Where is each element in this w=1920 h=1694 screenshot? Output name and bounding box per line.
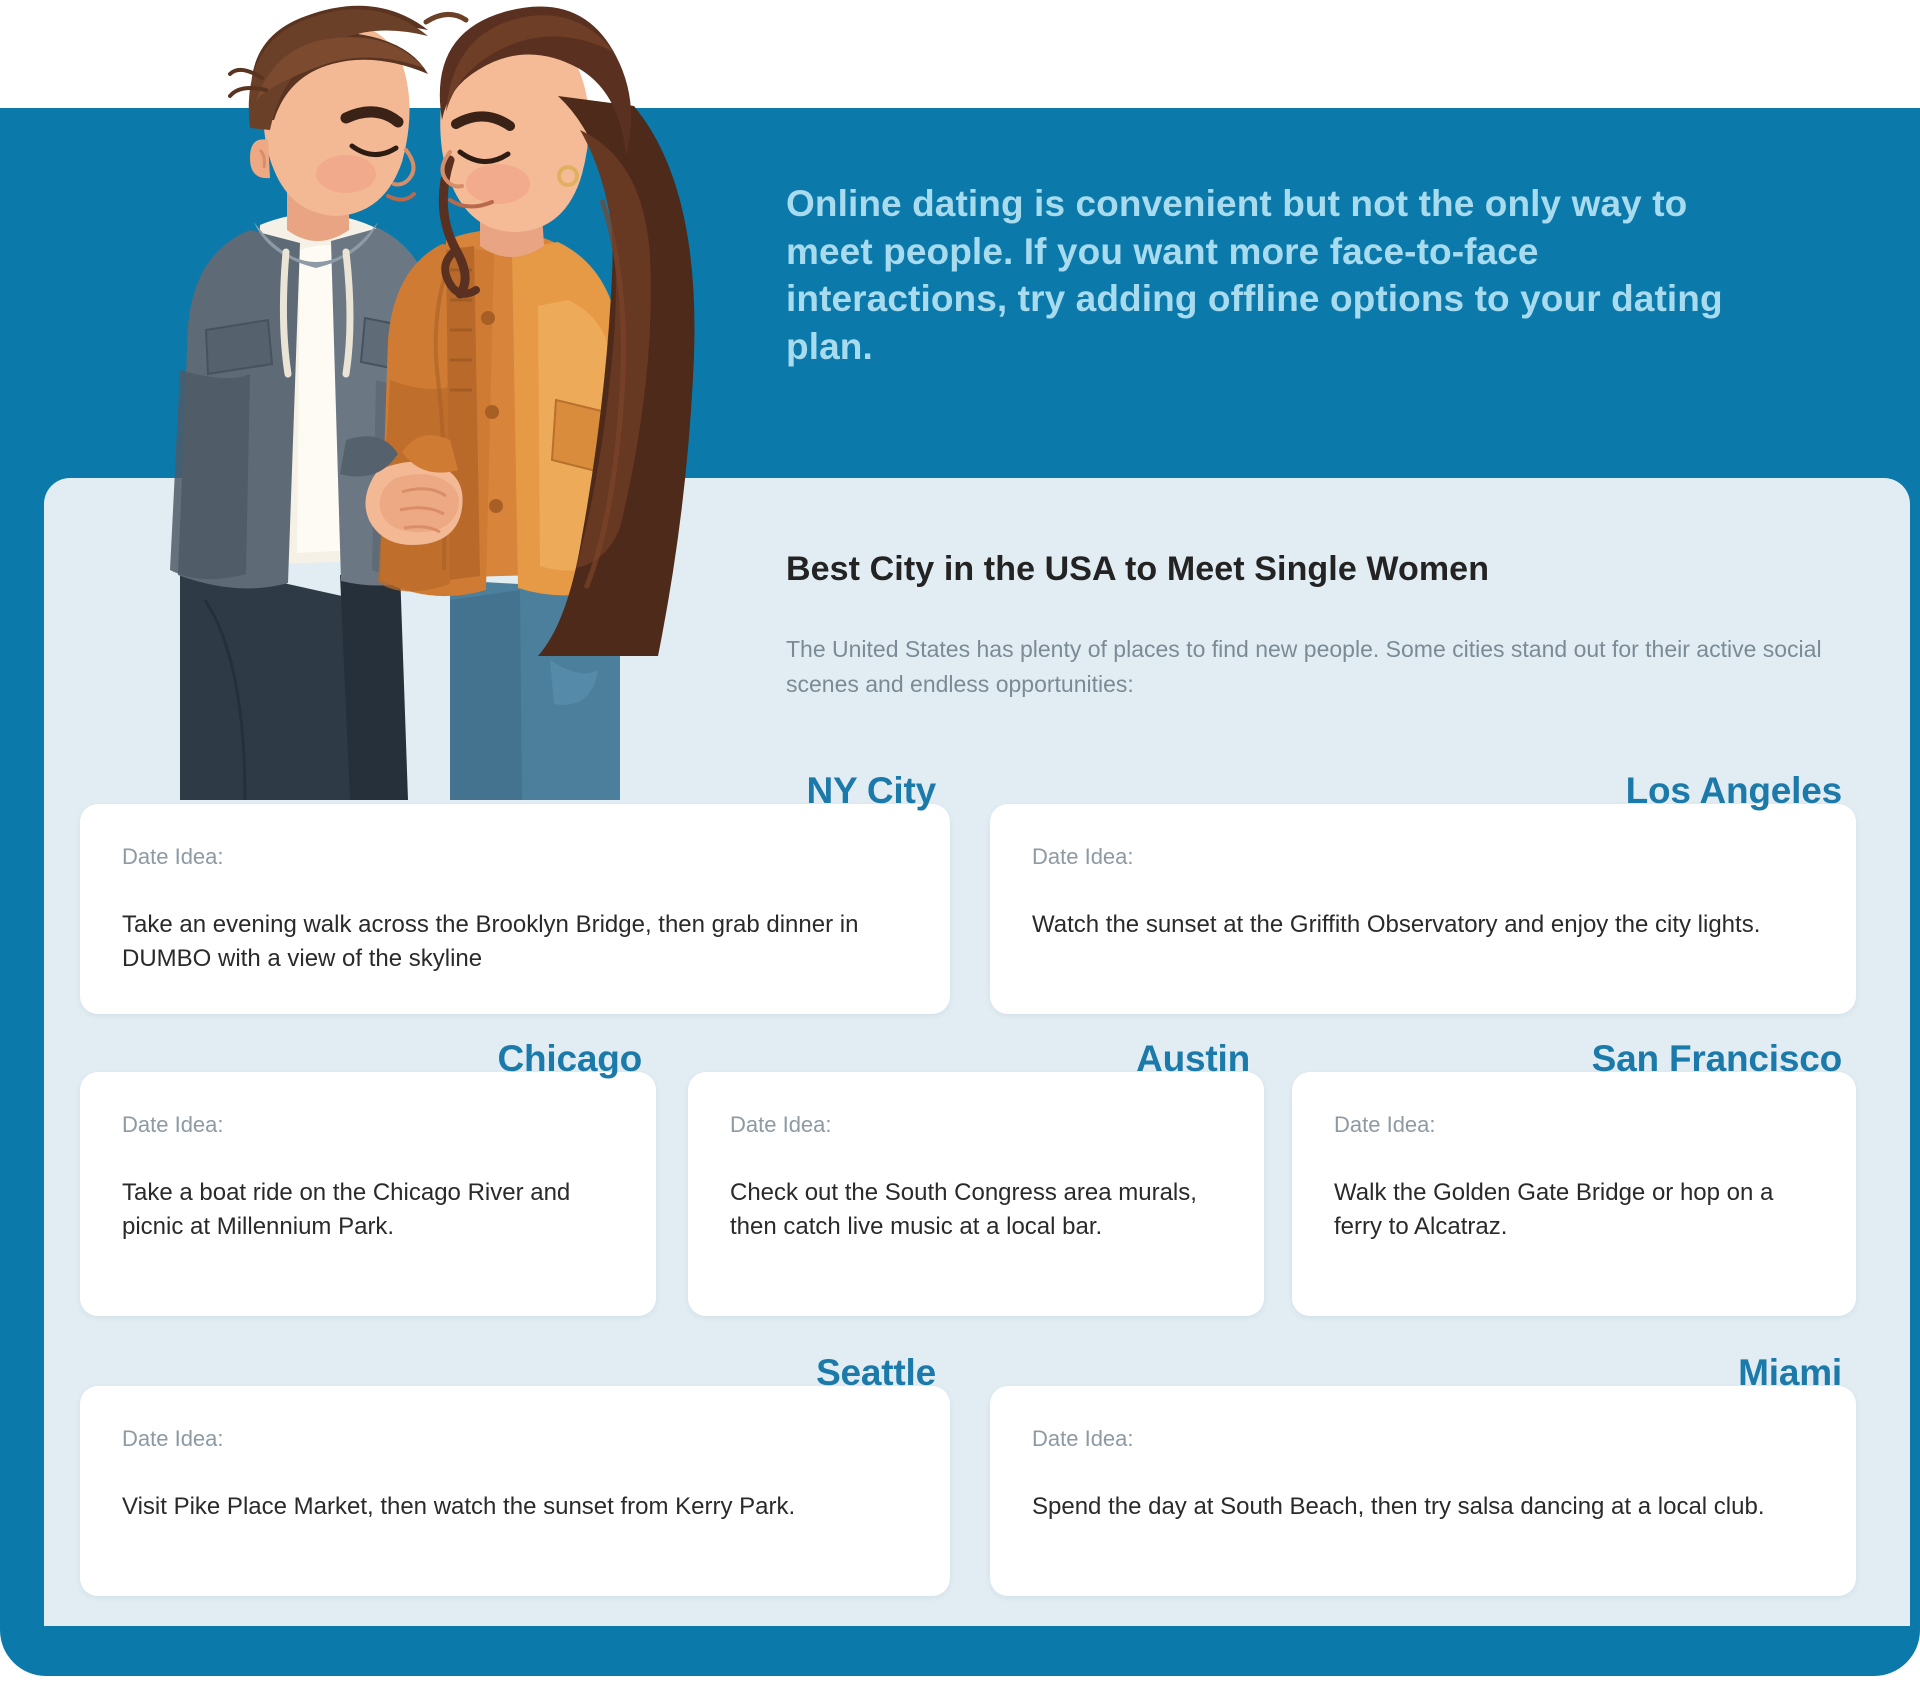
city-title-seattle: Seattle: [816, 1352, 936, 1394]
page-title: Best City in the USA to Meet Single Wome…: [786, 550, 1489, 589]
date-idea-text: Watch the sunset at the Griffith Observa…: [1032, 908, 1814, 942]
header-intro-text: Online dating is convenient but not the …: [786, 180, 1746, 371]
city-row-2: Chicago Date Idea: Take a boat ride on t…: [80, 1038, 1856, 1332]
date-idea-card-los-angeles[interactable]: Date Idea: Watch the sunset at the Griff…: [990, 804, 1856, 1014]
date-idea-card-ny-city[interactable]: Date Idea: Take an evening walk across t…: [80, 804, 950, 1014]
date-idea-text: Take a boat ride on the Chicago River an…: [122, 1176, 614, 1244]
date-idea-label: Date Idea:: [1032, 1426, 1814, 1452]
page-description: The United States has plenty of places t…: [786, 632, 1866, 702]
date-idea-text: Visit Pike Place Market, then watch the …: [122, 1490, 908, 1524]
city-title-los-angeles: Los Angeles: [1626, 770, 1842, 812]
date-idea-text: Check out the South Congress area murals…: [730, 1176, 1222, 1244]
city-row-1: NY City Date Idea: Take an evening walk …: [80, 770, 1856, 1018]
city-title-san-francisco: San Francisco: [1592, 1038, 1842, 1080]
date-idea-label: Date Idea:: [1032, 844, 1814, 870]
date-idea-card-chicago[interactable]: Date Idea: Take a boat ride on the Chica…: [80, 1072, 656, 1316]
date-idea-label: Date Idea:: [1334, 1112, 1814, 1138]
date-idea-text: Spend the day at South Beach, then try s…: [1032, 1490, 1814, 1524]
date-idea-card-seattle[interactable]: Date Idea: Visit Pike Place Market, then…: [80, 1386, 950, 1596]
date-idea-label: Date Idea:: [730, 1112, 1222, 1138]
city-row-3: Seattle Date Idea: Visit Pike Place Mark…: [80, 1352, 1856, 1602]
date-idea-card-san-francisco[interactable]: Date Idea: Walk the Golden Gate Bridge o…: [1292, 1072, 1856, 1316]
date-idea-label: Date Idea:: [122, 1112, 614, 1138]
city-title-chicago: Chicago: [497, 1038, 642, 1080]
date-idea-label: Date Idea:: [122, 1426, 908, 1452]
date-idea-label: Date Idea:: [122, 844, 908, 870]
city-title-miami: Miami: [1738, 1352, 1842, 1394]
date-idea-card-miami[interactable]: Date Idea: Spend the day at South Beach,…: [990, 1386, 1856, 1596]
city-title-ny-city: NY City: [806, 770, 936, 812]
date-idea-text: Take an evening walk across the Brooklyn…: [122, 908, 908, 976]
date-idea-text: Walk the Golden Gate Bridge or hop on a …: [1334, 1176, 1814, 1244]
city-title-austin: Austin: [1136, 1038, 1250, 1080]
date-idea-card-austin[interactable]: Date Idea: Check out the South Congress …: [688, 1072, 1264, 1316]
